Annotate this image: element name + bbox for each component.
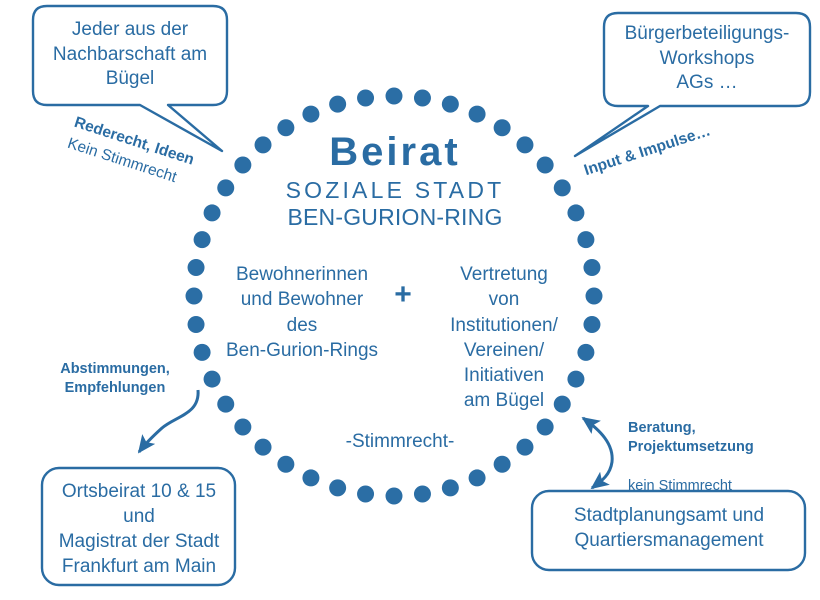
ring-dot bbox=[442, 96, 459, 113]
ring-dot bbox=[494, 456, 511, 473]
ring-dot bbox=[188, 316, 205, 333]
ring-dot bbox=[357, 90, 374, 107]
ring-dot bbox=[302, 469, 319, 486]
arrow-label-abstimmungen: Abstimmungen, Empfehlungen bbox=[40, 360, 190, 398]
ring-dot bbox=[583, 316, 600, 333]
ring-dot bbox=[442, 479, 459, 496]
ring-dot bbox=[204, 371, 221, 388]
ring-dot bbox=[194, 231, 211, 248]
arrow-label-beratung-normal: kein Stimmrecht bbox=[628, 477, 788, 496]
ring-dot bbox=[386, 488, 403, 505]
ring-dot bbox=[469, 469, 486, 486]
page-title: Beirat bbox=[230, 128, 560, 177]
ring-dot bbox=[357, 485, 374, 502]
arrow-label-beratung-bold: Beratung, Projektumsetzung bbox=[628, 419, 788, 457]
ring-dot bbox=[469, 106, 486, 123]
ring-dot bbox=[194, 344, 211, 361]
page-subtitle-soziale-stadt: SOZIALE STADT bbox=[230, 176, 560, 204]
ring-dot bbox=[583, 259, 600, 276]
center-column-institutions: Vertretung von Institutionen/ Vereinen/ … bbox=[424, 262, 584, 414]
arrow-abstimmungen bbox=[139, 390, 198, 452]
ring-dot bbox=[277, 456, 294, 473]
speech-bubble-top-left-text: Jeder aus der Nachbarschaft am Bügel bbox=[40, 18, 220, 92]
ring-dot bbox=[516, 439, 533, 456]
center-column-residents: Bewohnerinnen und Bewohner des Ben-Gurio… bbox=[212, 262, 392, 363]
ring-dot bbox=[577, 231, 594, 248]
ring-dot bbox=[537, 418, 554, 435]
box-bottom-left-text: Ortsbeirat 10 & 15 und Magistrat der Sta… bbox=[44, 479, 234, 579]
ring-dot bbox=[217, 396, 234, 413]
ring-dot bbox=[186, 288, 203, 305]
ring-dot bbox=[204, 204, 221, 221]
diagram-canvas: Jeder aus der Nachbarschaft am Bügel Red… bbox=[0, 0, 820, 600]
ring-dot bbox=[586, 288, 603, 305]
ring-dot bbox=[329, 96, 346, 113]
speech-bubble-top-right-text: Bürgerbeteiligungs- Workshops AGs … bbox=[608, 22, 806, 96]
ring-dot bbox=[414, 485, 431, 502]
arrow-label-beratung: Beratung, Projektumsetzung kein Stimmrec… bbox=[628, 400, 788, 515]
box-bottom-right-text: Stadtplanungsamt und Quartiersmanagement bbox=[534, 503, 804, 553]
plus-icon: + bbox=[386, 277, 420, 314]
ring-dot bbox=[567, 204, 584, 221]
center-footer-stimmrecht: -Stimmrecht- bbox=[300, 430, 500, 453]
ring-dot bbox=[302, 106, 319, 123]
ring-dot bbox=[188, 259, 205, 276]
arrow-beratung bbox=[583, 418, 612, 488]
ring-dot bbox=[386, 88, 403, 105]
ring-dot bbox=[414, 90, 431, 107]
ring-dot bbox=[234, 418, 251, 435]
ring-dot bbox=[329, 479, 346, 496]
ring-dot bbox=[255, 439, 272, 456]
page-subtitle-ben-gurion-ring: BEN-GURION-RING bbox=[230, 203, 560, 231]
